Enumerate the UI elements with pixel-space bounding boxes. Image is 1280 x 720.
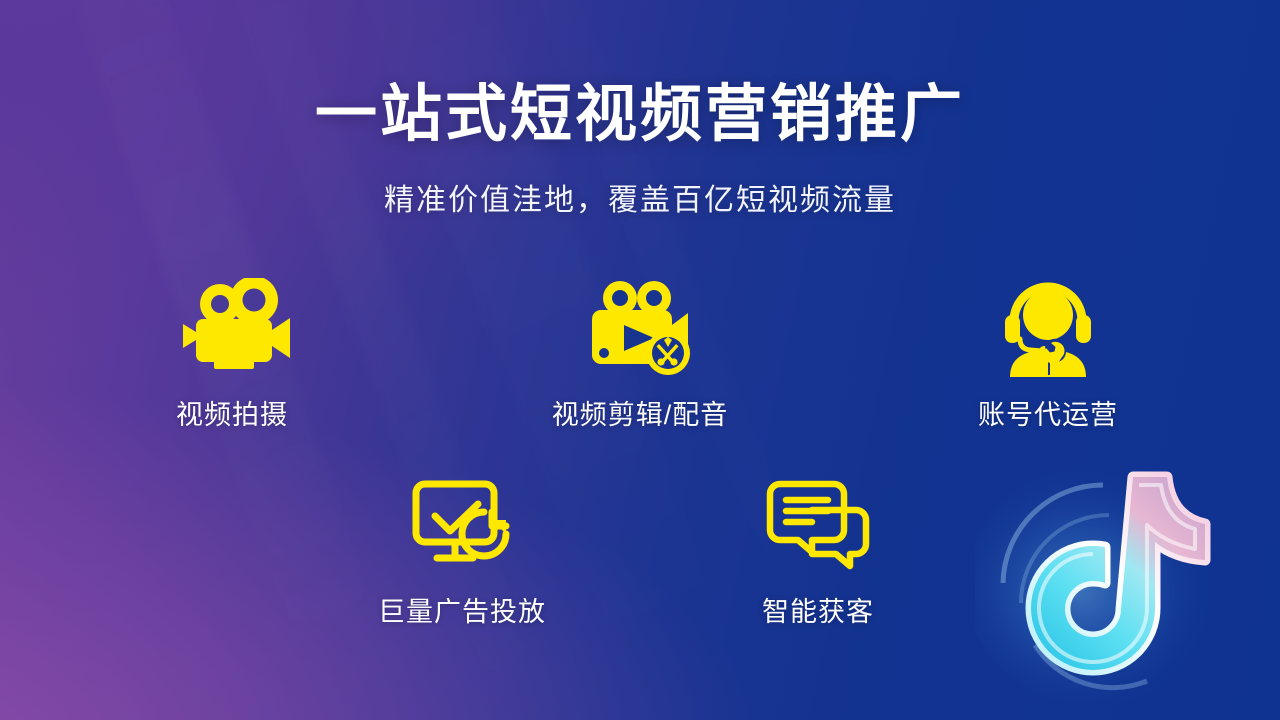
monitor-check-pie-chart-icon <box>410 472 514 576</box>
service-item-smart-acquisition[interactable]: 智能获客 <box>702 472 934 629</box>
service-label: 智能获客 <box>762 590 874 629</box>
poster-background: 一站式短视频营销推广 精准价值洼地，覆盖百亿短视频流量 视频拍摄 <box>0 0 1280 720</box>
service-item-video-editing[interactable]: 视频剪辑/配音 <box>524 275 756 432</box>
service-item-video-shooting[interactable]: 视频拍摄 <box>116 275 348 432</box>
service-label: 视频剪辑/配音 <box>552 393 729 432</box>
service-row-top: 视频拍摄 <box>0 275 1280 432</box>
video-edit-scissors-icon <box>584 275 696 379</box>
page-subtitle: 精准价值洼地，覆盖百亿短视频流量 <box>0 182 1280 220</box>
service-label: 巨量广告投放 <box>378 590 546 629</box>
chat-bubbles-icon <box>766 472 870 576</box>
service-label: 视频拍摄 <box>176 393 288 432</box>
headset-agent-wrench-icon <box>996 275 1100 379</box>
movie-camera-icon <box>174 275 290 379</box>
service-item-account-operation[interactable]: 账号代运营 <box>932 275 1164 432</box>
service-label: 账号代运营 <box>978 393 1118 432</box>
page-title: 一站式短视频营销推广 <box>0 84 1280 146</box>
douyin-music-note-logo <box>975 455 1235 705</box>
service-item-ad-delivery[interactable]: 巨量广告投放 <box>346 472 578 629</box>
